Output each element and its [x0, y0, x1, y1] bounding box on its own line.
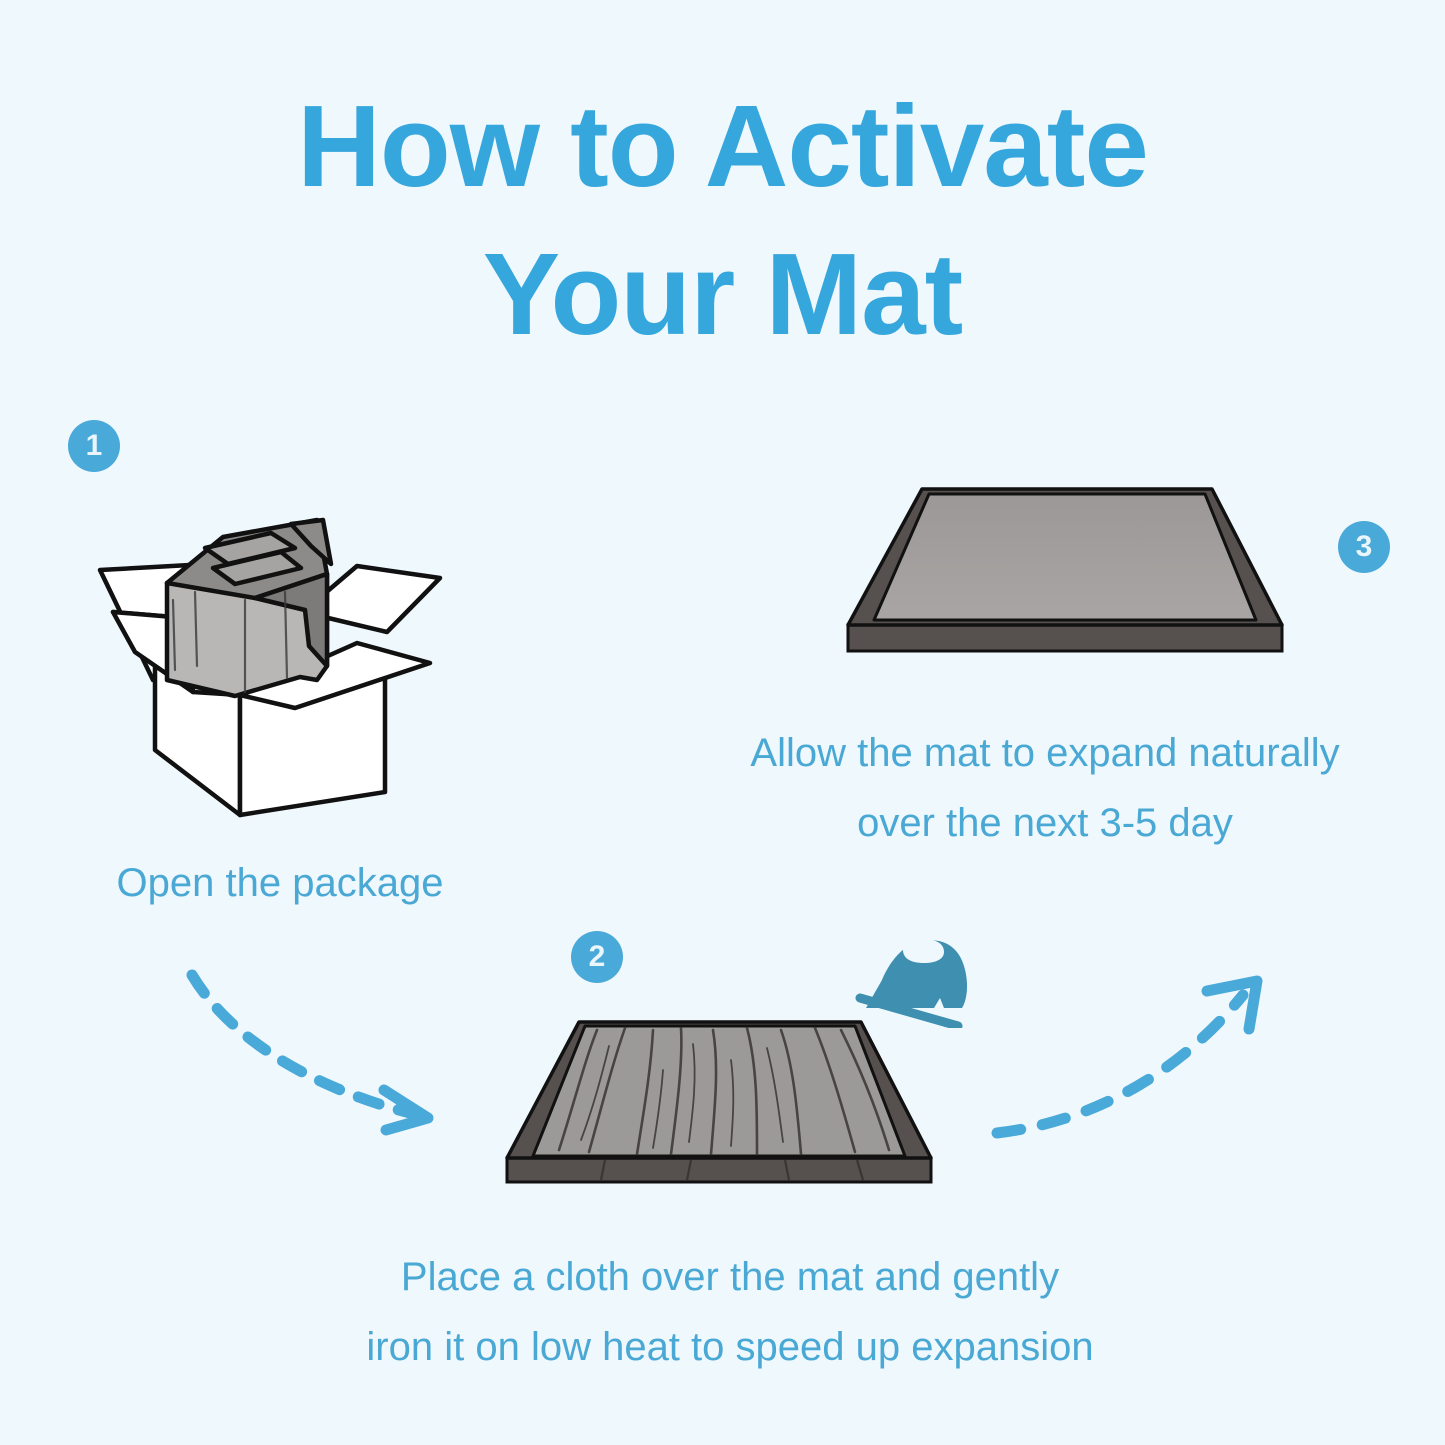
dashed-arrow-step1-to-step2	[170, 930, 490, 1145]
step-3-caption: Allow the mat to expand naturally over t…	[660, 718, 1430, 858]
open-box-illustration	[95, 480, 445, 825]
step-1-caption: Open the package	[40, 848, 520, 918]
infographic-canvas: How to Activate Your Mat 1	[0, 0, 1445, 1445]
step-2-caption: Place a cloth over the mat and gently ir…	[250, 1242, 1210, 1382]
step-badge-3: 3	[1338, 521, 1390, 573]
expanded-mat-illustration	[830, 465, 1300, 675]
step-3-caption-line-1: Allow the mat to expand naturally	[660, 718, 1430, 788]
step-3-caption-line-2: over the next 3-5 day	[660, 788, 1430, 858]
step-badge-1: 1	[68, 420, 120, 472]
mat-with-cloth-illustration	[485, 1000, 955, 1220]
step-2-caption-line-2: iron it on low heat to speed up expansio…	[250, 1312, 1210, 1382]
page-title-line-2: Your Mat	[0, 236, 1445, 352]
step-badge-2: 2	[571, 931, 623, 983]
dashed-arrow-step2-to-step3	[985, 955, 1285, 1160]
page-title-line-1: How to Activate	[0, 88, 1445, 204]
step-2-caption-line-1: Place a cloth over the mat and gently	[250, 1242, 1210, 1312]
